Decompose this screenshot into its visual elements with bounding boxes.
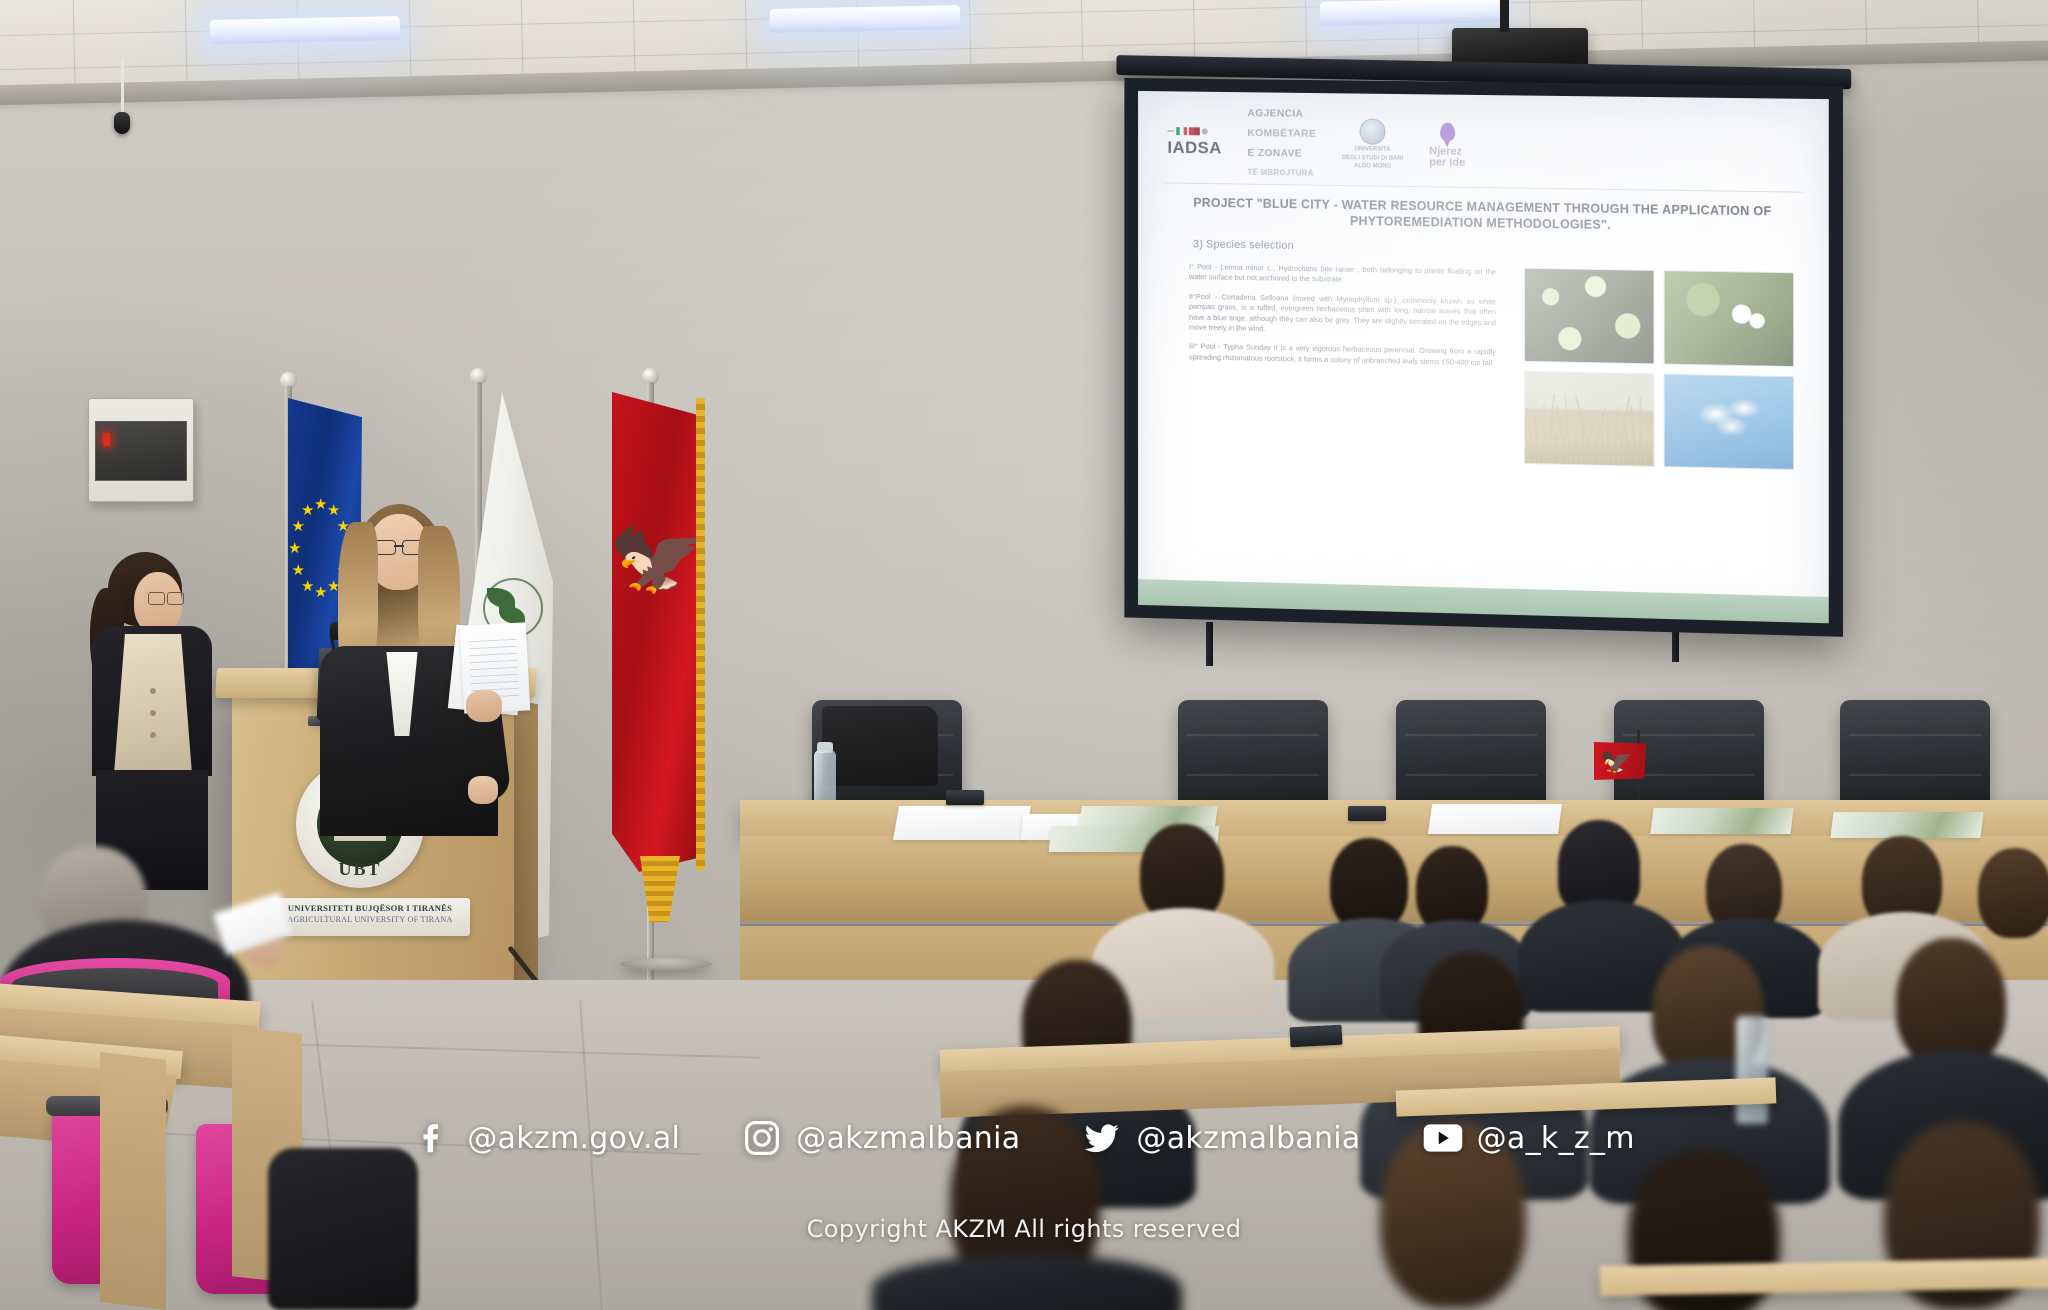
eu-star-icon: ★ — [291, 563, 304, 578]
grass-blade — [1644, 440, 1648, 466]
akzm-line-4: TË MBROJTURA — [1247, 168, 1316, 179]
plaque-albanian-name: UNIVERSITETI BUJQËSOR I TIRANËS — [270, 903, 470, 913]
grass-blade — [1527, 426, 1535, 463]
slide-paragraph-2: II°Pool - Cortaderia Selloana (mixed wit… — [1189, 292, 1496, 339]
university-line-3: ALDO MORO — [1354, 164, 1391, 171]
eu-star-icon: ★ — [288, 541, 301, 556]
iadsa-wordmark: IADSA — [1167, 138, 1221, 159]
eu-star-icon: ★ — [301, 579, 314, 594]
slide-logo-bar: IADSA AGJENCIA KOMBËTARE E ZONAVE TË MBR… — [1167, 113, 1798, 179]
slide-photo-pampas-plumes — [1663, 373, 1794, 470]
grass-blade — [1640, 395, 1642, 465]
desk-flag-eagle-icon: 🦅 — [1600, 752, 1639, 774]
iadsa-logo: IADSA — [1167, 126, 1221, 158]
electrical-panel-box[interactable] — [88, 398, 194, 502]
grass-blade — [1575, 438, 1577, 464]
akzm-line-3: E ZONAVE — [1247, 148, 1316, 159]
second-presenter-standing — [76, 552, 236, 882]
slide-title: PROJECT "BLUE CITY - WATER RESOURCE MANA… — [1177, 195, 1788, 236]
vest-button-icon — [150, 732, 156, 738]
university-seal-icon — [1360, 119, 1386, 145]
grass-blade — [1524, 438, 1531, 464]
table-brochure — [1830, 812, 1983, 838]
table-document — [1428, 804, 1562, 834]
plaque-english-name: AGRICULTURAL UNIVERSITY OF TIRANA — [270, 915, 470, 924]
slide-divider — [1164, 182, 1803, 192]
university-line-2: DEGLI STUDI DI BARI — [1342, 155, 1404, 162]
audience-head — [1978, 848, 2048, 938]
grass-blade — [1580, 427, 1585, 464]
flagpole-base — [620, 958, 712, 970]
slide-section-heading: 3) Species selection — [1193, 238, 1294, 252]
vest-button-icon — [150, 710, 156, 716]
presenter-hand — [468, 776, 498, 804]
presenter-holding-hand — [466, 690, 502, 722]
grass-blade — [1612, 406, 1619, 465]
smartphone-on-table[interactable] — [946, 790, 984, 805]
lecture-hall-photo: IADSA AGJENCIA KOMBËTARE E ZONAVE TË MBR… — [0, 0, 2048, 1310]
slide-photo-grid — [1524, 268, 1794, 470]
draped-jacket — [822, 706, 938, 786]
albania-flag-fringe — [696, 398, 705, 870]
grass-blade — [1549, 417, 1563, 464]
grass-blade — [1607, 417, 1609, 465]
grass-blade — [1557, 428, 1569, 464]
grass-blade — [1556, 405, 1568, 464]
vest-button-icon — [150, 688, 156, 694]
njerez-line-2: per Ide — [1429, 157, 1465, 168]
slide-photo-lemna-minor — [1524, 268, 1654, 364]
njerez-per-ide-logo: Njerez per Ide — [1429, 122, 1465, 168]
panel-glass-cover — [95, 421, 187, 480]
lecture-desk-panel — [100, 1052, 166, 1310]
audience-head — [1896, 938, 2006, 1068]
grass-blade — [1543, 404, 1545, 463]
backpack-on-floor — [268, 1148, 418, 1310]
audience-water-bottle — [1736, 1016, 1768, 1124]
slide-paragraph-3: III° Pool - Typha Sunday It is a very vi… — [1189, 342, 1496, 369]
slide-photo-cortaderia — [1524, 370, 1654, 467]
smartphone-on-table[interactable] — [1348, 806, 1386, 821]
grass-blade — [1630, 406, 1637, 465]
presentation-slide: IADSA AGJENCIA KOMBËTARE E ZONAVE TË MBR… — [1138, 91, 1829, 623]
grass-blade — [1617, 396, 1631, 465]
grass-blade — [1584, 417, 1594, 465]
podium-plaque: UNIVERSITETI BUJQËSOR I TIRANËS AGRICULT… — [270, 898, 470, 936]
university-bari-logo: UNIVERSITA DEGLI STUDI DI BARI ALDO MORO — [1342, 119, 1404, 171]
second-presenter-glasses-icon — [148, 592, 184, 603]
grass-blade — [1534, 415, 1540, 463]
table-document — [893, 806, 1031, 840]
grass-blade — [1547, 394, 1555, 464]
slide-photo-hydrocharis — [1663, 270, 1794, 367]
slide-footer-band — [1138, 579, 1829, 623]
table-brochure — [1650, 808, 1793, 834]
emblem-abbreviation: UBT — [296, 859, 424, 880]
akzm-line-2: KOMBËTARE — [1247, 128, 1316, 139]
grass-blade — [1621, 440, 1630, 466]
akzm-line-1: AGJENCIA — [1247, 108, 1316, 119]
audience-head-with-cap — [1558, 820, 1640, 912]
iadsa-flag-strip-icon — [1167, 126, 1221, 136]
grass-blade — [1564, 394, 1572, 464]
grass-blade — [1575, 396, 1595, 465]
grass-blade — [1600, 428, 1605, 465]
panel-status-led-icon — [103, 433, 110, 446]
grass-blade — [1594, 439, 1601, 465]
map-pin-icon — [1440, 122, 1455, 141]
slide-body-text: I° Pool - Lemna minor L., Hydrocharis bi… — [1189, 262, 1496, 377]
audience-head — [1380, 1122, 1526, 1308]
smartphone-on-desk[interactable] — [1290, 1025, 1343, 1048]
grass-blade — [1552, 438, 1558, 464]
slide-paragraph-1: I° Pool - Lemna minor L., Hydrocharis bi… — [1189, 262, 1496, 288]
screen-support-leg — [1206, 622, 1213, 666]
projection-screen: IADSA AGJENCIA KOMBËTARE E ZONAVE TË MBR… — [1124, 78, 1843, 637]
second-presenter-beige-vest — [114, 634, 192, 774]
university-line-1: UNIVERSITA — [1355, 147, 1391, 154]
grass-blade — [1616, 429, 1628, 466]
akzm-logo: AGJENCIA KOMBËTARE E ZONAVE TË MBROJTURA — [1247, 108, 1316, 179]
grass-blade — [1589, 407, 1606, 464]
albania-flag: 🦅 — [612, 392, 702, 872]
eu-star-icon: ★ — [291, 519, 304, 534]
eu-star-icon: ★ — [301, 503, 314, 518]
grass-blade — [1622, 418, 1632, 466]
